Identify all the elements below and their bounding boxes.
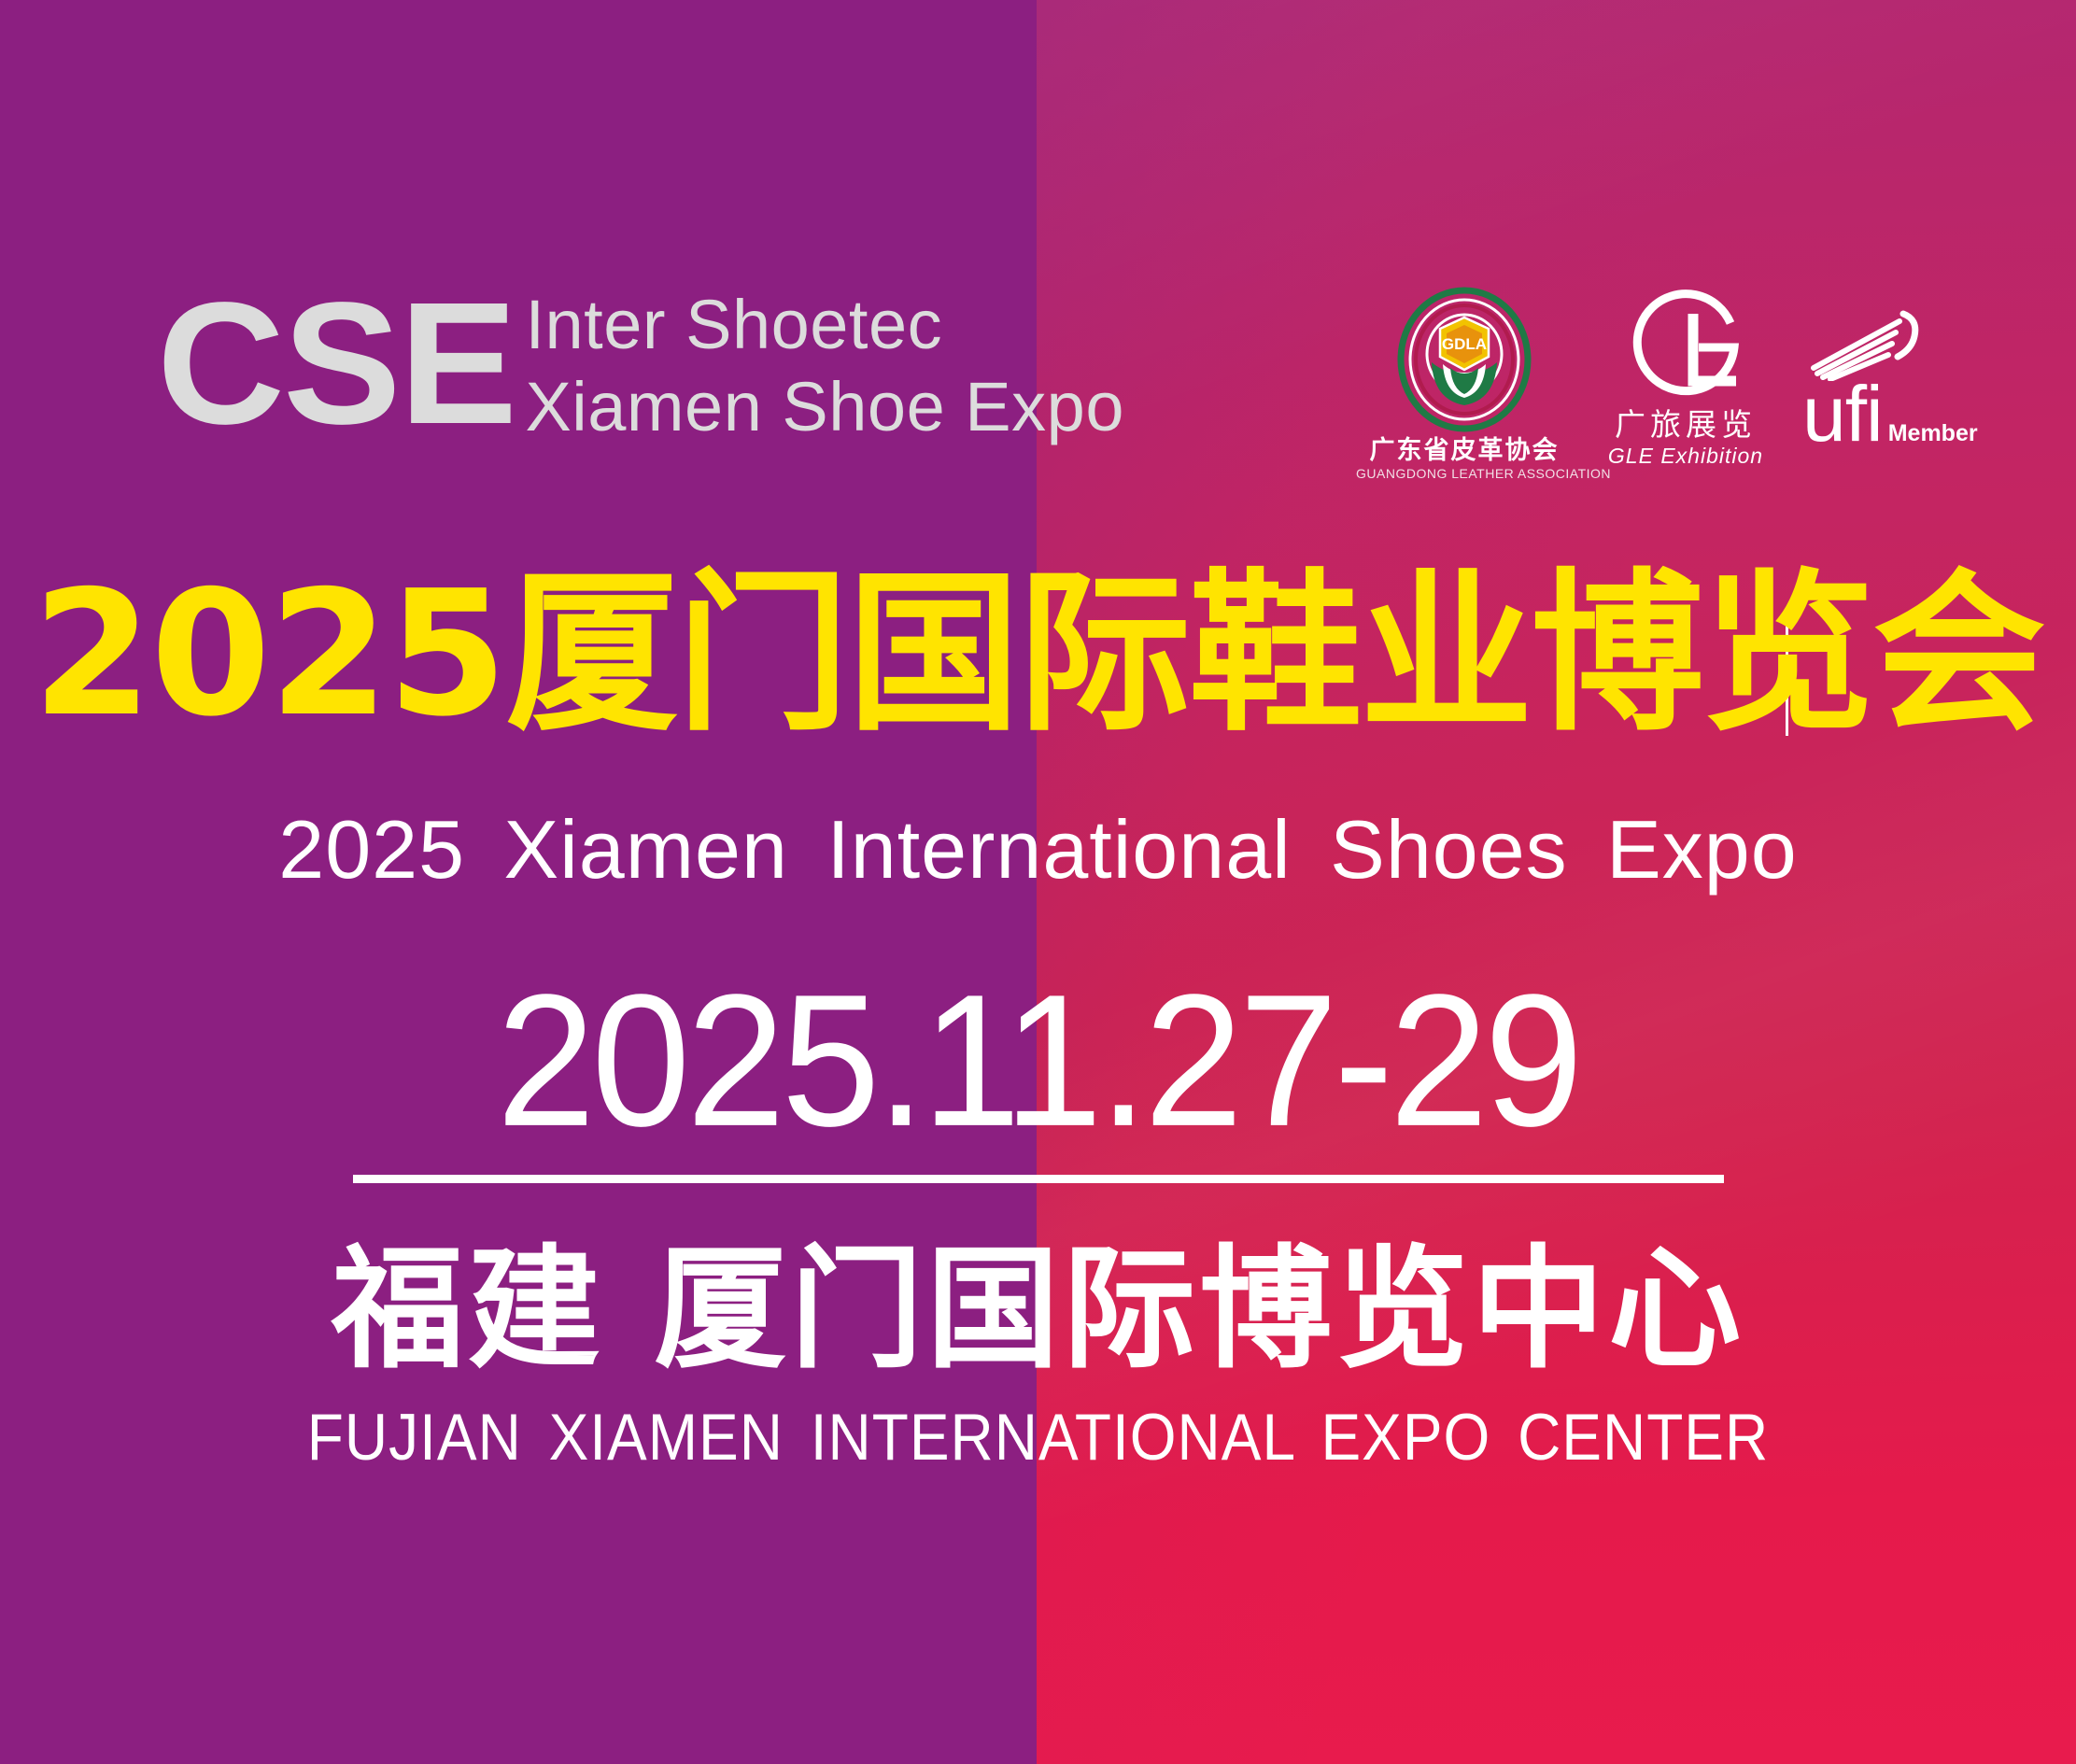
cse-monogram: CSE: [157, 280, 515, 448]
cse-brand-lockup: CSE Inter Shoetec Xiamen Shoe Expo: [157, 280, 1124, 448]
gle-monogram-icon: [1620, 289, 1751, 403]
ufi-member-label: Member: [1888, 420, 1978, 446]
gle-name-cn: 广旅展览: [1592, 407, 1779, 443]
gdla-seal-icon: GDLA: [1394, 286, 1534, 433]
ufi-logo: ufi Member: [1802, 306, 2008, 450]
cse-brand-words: Inter Shoetec Xiamen Shoe Expo: [525, 284, 1124, 448]
gle-name-en: GLE Exhibition: [1592, 443, 1779, 469]
poster-venue-cn: 福建 厦门国际博览中心: [0, 1235, 2076, 1386]
gdla-seal-text: GDLA: [1442, 335, 1487, 353]
gle-logo: 广旅展览 GLE Exhibition: [1592, 289, 1779, 469]
poster-divider-rule: [353, 1175, 1724, 1183]
poster-dates: 2025.11.27-29: [0, 962, 2076, 1160]
header-logo-row: CSE Inter Shoetec Xiamen Shoe Expo GDLA …: [0, 280, 2076, 495]
cse-brand-line-1: Inter Shoetec: [525, 284, 1124, 366]
cse-brand-line-2: Xiamen Shoe Expo: [525, 366, 1124, 448]
poster-title-en: 2025 Xiamen International Shoes Expo: [0, 803, 2076, 896]
gdla-name-cn: 广东省皮革协会: [1356, 435, 1573, 465]
gdla-logo: GDLA 广东省皮革协会 GUANGDONG LEATHER ASSOCIATI…: [1356, 286, 1573, 482]
poster-canvas: CSE Inter Shoetec Xiamen Shoe Expo GDLA …: [0, 0, 2076, 1764]
gdla-name-en: GUANGDONG LEATHER ASSOCIATION: [1356, 465, 1573, 482]
poster-venue-en: FUJIAN XIAMEN INTERNATIONAL EXPO CENTER: [0, 1399, 2076, 1475]
ufi-wordmark: ufi: [1802, 377, 1883, 450]
poster-title-cn: 2025厦门国际鞋业博览会: [0, 560, 2076, 747]
ufi-wordmark-row: ufi Member: [1802, 377, 2008, 450]
